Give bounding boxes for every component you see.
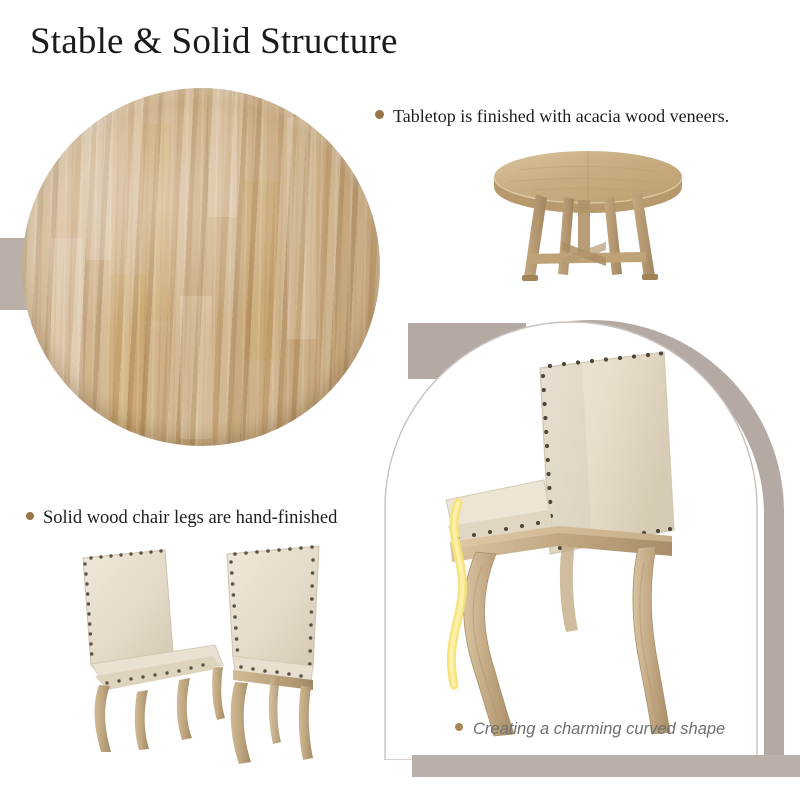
bullet-chair-legs: Solid wood chair legs are hand-finished	[26, 508, 337, 529]
infographic-page: Stable & Solid Structure Tabletop is fin…	[0, 0, 800, 800]
tabletop-edge	[22, 88, 380, 446]
bullet-dot-icon	[26, 512, 34, 520]
chair-right	[227, 545, 319, 764]
curved-chair-leg	[633, 546, 670, 734]
chair-left	[83, 549, 225, 752]
bullet-tabletop-label: Tabletop is finished with acacia wood ve…	[393, 106, 729, 127]
bullet-dot-icon	[455, 723, 463, 731]
bullet-curved-shape: Creating a charming curved shape	[455, 720, 725, 739]
bullet-curved-shape-label: Creating a charming curved shape	[473, 720, 725, 739]
bullet-tabletop: Tabletop is finished with acacia wood ve…	[375, 106, 729, 127]
chair-pair-image	[55, 540, 385, 792]
bullet-chair-legs-label: Solid wood chair legs are hand-finished	[43, 508, 337, 529]
round-tabletop-image	[22, 88, 380, 446]
curved-chair-leg	[464, 552, 514, 736]
grey-accent-bar-bottom	[412, 755, 800, 777]
bullet-dot-icon	[375, 110, 384, 119]
chair-detail-image	[432, 330, 722, 750]
dining-table-image	[478, 142, 698, 300]
page-title: Stable & Solid Structure	[30, 20, 398, 63]
